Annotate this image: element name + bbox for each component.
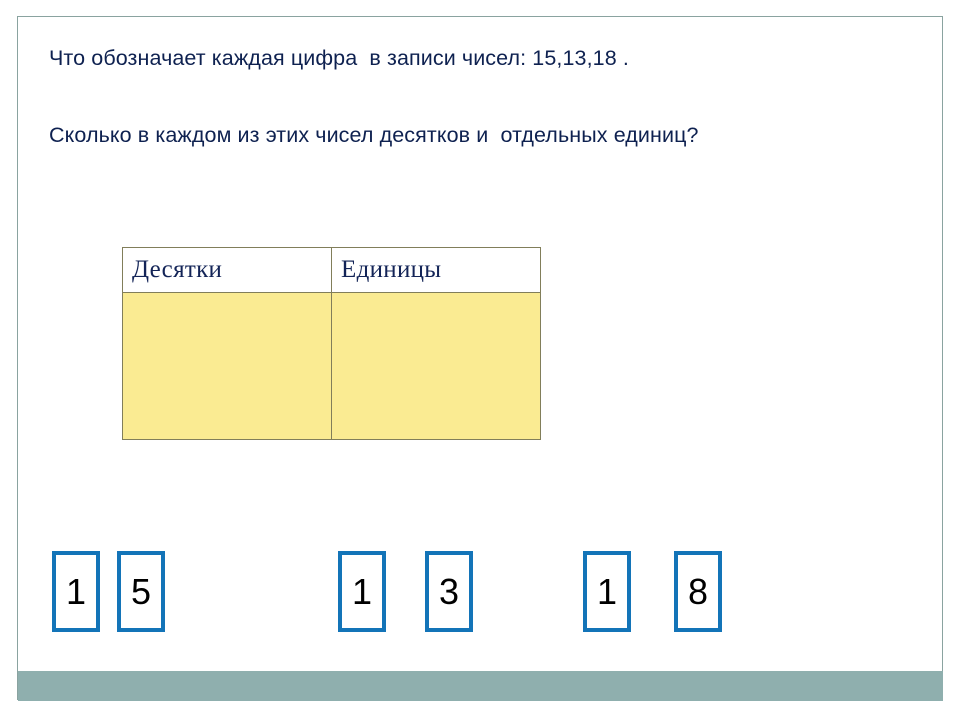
digit-card-18-units[interactable]: 8 [674,551,722,632]
question-line-1: Что обозначает каждая цифра в записи чис… [49,43,929,74]
slide-canvas: Что обозначает каждая цифра в записи чис… [0,0,960,720]
table-cell-tens[interactable] [123,293,332,440]
table-header-tens: Десятки [123,248,332,293]
table-row [123,293,541,440]
digit-card-15-tens[interactable]: 1 [52,551,100,632]
question-line-2: Сколько в каждом из этих чисел десятков … [49,120,749,151]
digit-card-13-tens[interactable]: 1 [338,551,386,632]
digit-card-13-units[interactable]: 3 [425,551,473,632]
table-cell-units[interactable] [332,293,541,440]
digit-card-15-units[interactable]: 5 [117,551,165,632]
footer-accent-band [18,671,943,701]
digit-card-18-tens[interactable]: 1 [583,551,631,632]
table-header-units: Единицы [332,248,541,293]
place-value-table: Десятки Единицы [122,247,541,440]
table-header-row: Десятки Единицы [123,248,541,293]
